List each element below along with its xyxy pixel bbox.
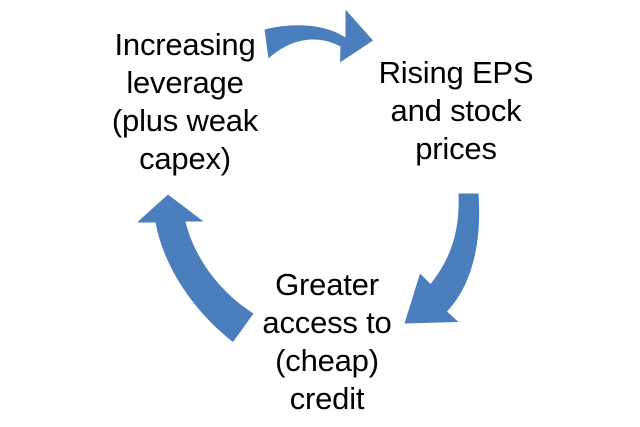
node-label-greater-access: Greater access to (cheap) credit [242, 266, 412, 418]
node-label-rising-eps: Rising EPS and stock prices [366, 54, 546, 168]
node-label-increasing-leverage: Increasing leverage (plus weak capex) [72, 26, 298, 178]
arrow-right-rising-to-greater-icon [405, 194, 480, 324]
diagram-canvas: Increasing leverage (plus weak capex) Ri… [0, 0, 640, 427]
arrow-left-greater-to-increasing-icon [137, 195, 254, 343]
